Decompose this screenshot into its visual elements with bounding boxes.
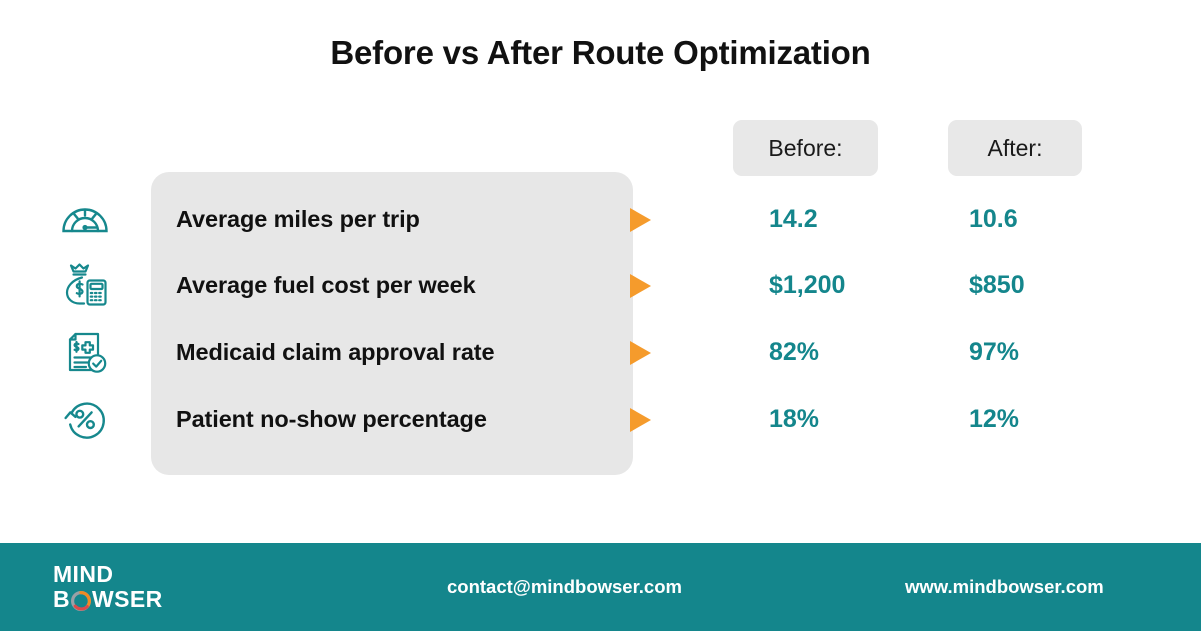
row-value-before: $1,200 (769, 252, 845, 319)
column-header-before-label: Before: (768, 135, 842, 162)
row-label: Medicaid claim approval rate (176, 319, 495, 386)
row-value-after: 97% (969, 319, 1019, 386)
money-bag-calculator-icon (56, 256, 114, 314)
row-value-before: 18% (769, 386, 819, 453)
mindbowser-logo: MIND B WSER (53, 562, 213, 614)
footer-email[interactable]: contact@mindbowser.com (447, 543, 682, 631)
logo-text-bowser-pre: B (53, 587, 70, 612)
footer-website[interactable]: www.mindbowser.com (905, 543, 1104, 631)
table-row: Patient no-show percentage 18% 12% (0, 386, 1201, 453)
logo-circle-mark-icon (71, 591, 91, 611)
row-label: Patient no-show percentage (176, 386, 487, 453)
percent-refresh-icon (56, 390, 114, 448)
row-label: Average miles per trip (176, 186, 420, 253)
logo-text-mind: MIND (53, 562, 213, 587)
row-label: Average fuel cost per week (176, 252, 476, 319)
arrow-right-icon (630, 208, 651, 232)
arrow-right-icon (630, 341, 651, 365)
table-row: Medicaid claim approval rate 82% 97% (0, 319, 1201, 386)
logo-text-bowser: B WSER (53, 587, 213, 612)
column-header-before: Before: (733, 120, 878, 176)
footer-bar: MIND B WSER contact@mindbowser.com www.m… (0, 543, 1201, 631)
logo-text-bowser-post: WSER (92, 587, 163, 612)
row-value-before: 82% (769, 319, 819, 386)
speedometer-icon (56, 190, 114, 248)
page-title: Before vs After Route Optimization (0, 34, 1201, 72)
row-value-after: 10.6 (969, 186, 1018, 253)
row-value-before: 14.2 (769, 186, 818, 253)
medical-claim-document-icon (56, 323, 114, 381)
infographic-page: Before vs After Route Optimization Befor… (0, 0, 1201, 631)
arrow-right-icon (630, 274, 651, 298)
row-value-after: 12% (969, 386, 1019, 453)
column-header-after-label: After: (988, 135, 1043, 162)
table-row: Average fuel cost per week $1,200 $850 (0, 252, 1201, 319)
row-value-after: $850 (969, 252, 1025, 319)
table-row: Average miles per trip 14.2 10.6 (0, 186, 1201, 253)
column-header-after: After: (948, 120, 1082, 176)
arrow-right-icon (630, 408, 651, 432)
